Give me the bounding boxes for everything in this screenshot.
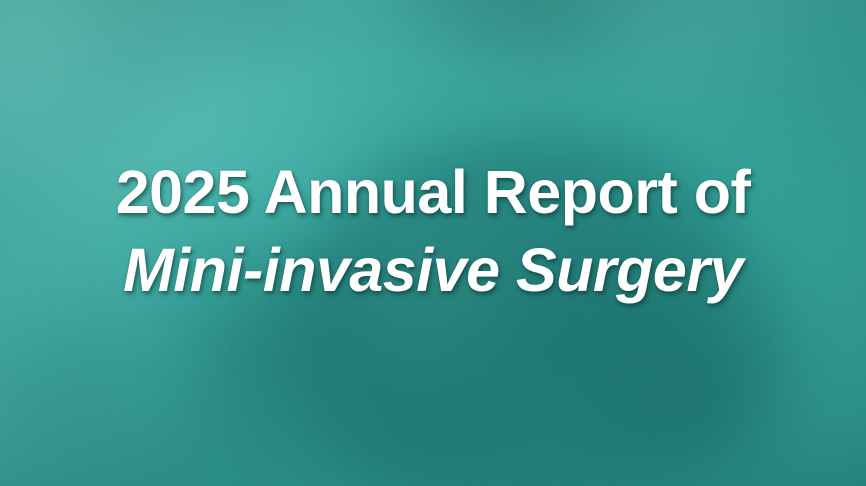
- title-line-secondary: Mini-invasive Surgery: [0, 236, 866, 306]
- title-card-slide: 2025 Annual Report of Mini-invasive Surg…: [0, 0, 866, 486]
- title-block: 2025 Annual Report of Mini-invasive Surg…: [0, 158, 866, 305]
- title-line-primary: 2025 Annual Report of: [0, 158, 866, 228]
